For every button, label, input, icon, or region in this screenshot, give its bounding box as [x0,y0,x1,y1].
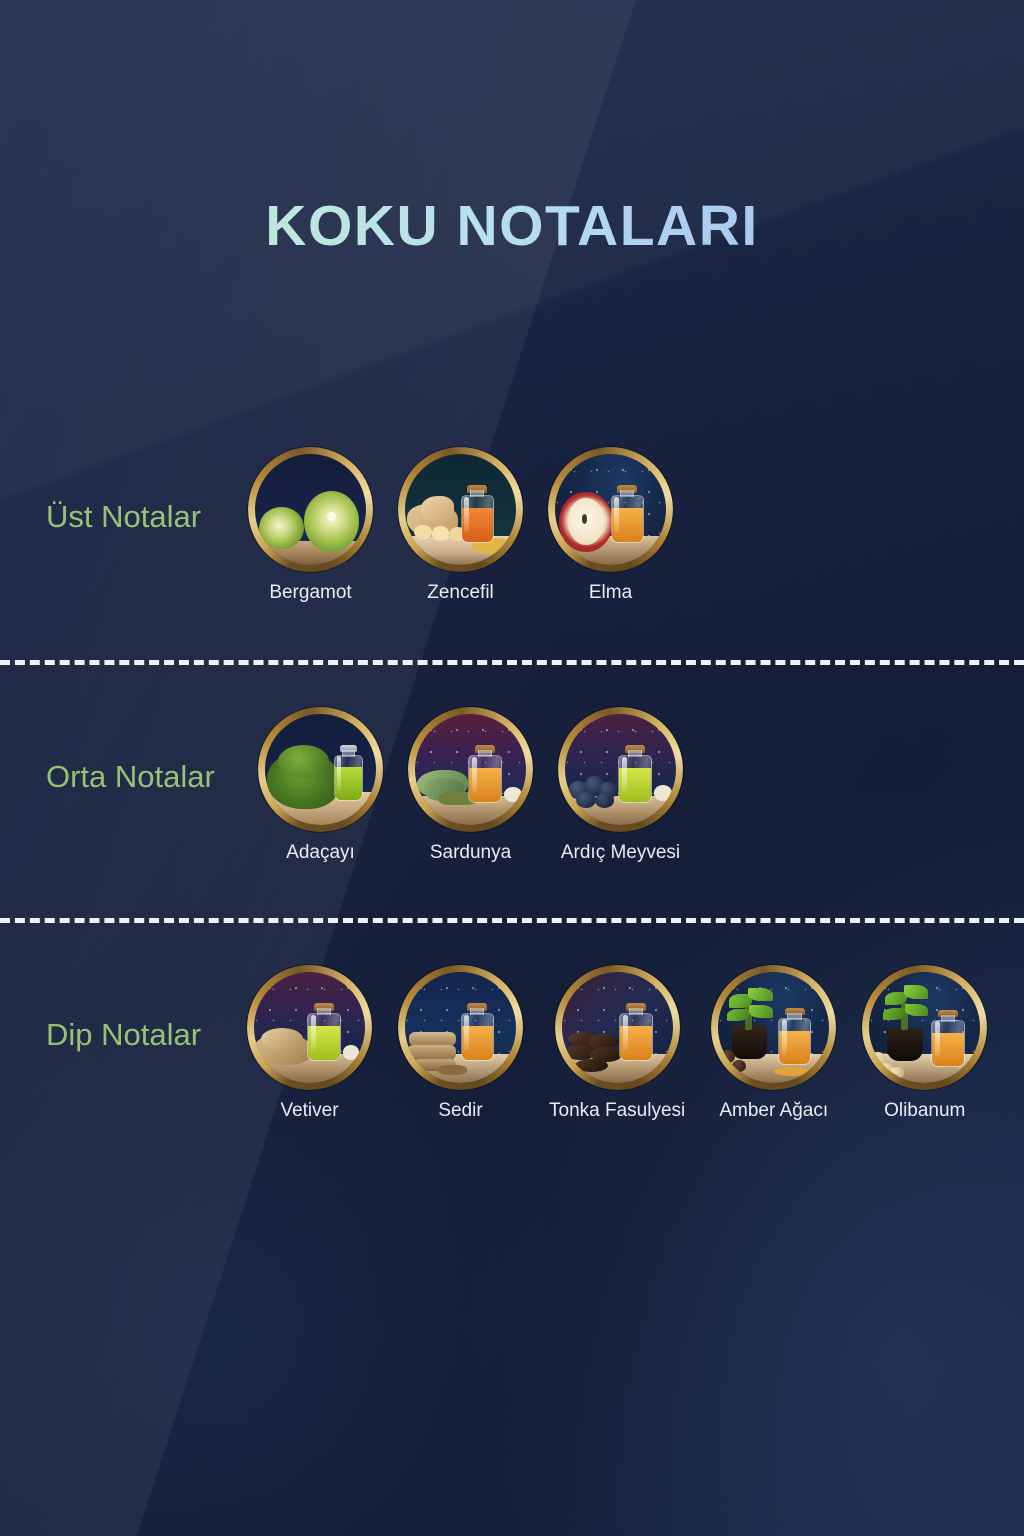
section-label-base-notes: Dip Notalar [46,1017,201,1053]
note-item-sardunya[interactable]: Sardunya [408,707,533,864]
divider-top-middle [0,660,1024,665]
ginger-root-icon [398,447,523,572]
note-item-elma[interactable]: Elma [548,447,673,604]
section-label-top-notes: Üst Notalar [46,499,201,535]
frankincense-icon [862,965,987,1090]
note-label: Vetiver [280,1100,338,1122]
note-item-adacayi[interactable]: Adaçayı [258,707,383,864]
note-item-zencefil[interactable]: Zencefil [398,447,523,604]
background-glow-right [444,756,1024,1536]
note-item-ardic-meyvesi[interactable]: Ardıç Meyvesi [558,707,683,864]
page-title: KOKU NOTALARI [0,193,1024,259]
amber-tree-icon [711,965,836,1090]
middle-notes-items: Adaçayı [258,707,683,864]
bergamot-citrus-icon [248,447,373,572]
note-label: Olibanum [884,1100,965,1122]
section-label-middle-notes: Orta Notalar [46,759,215,795]
note-item-bergamot[interactable]: Bergamot [248,447,373,604]
note-label: Tonka Fasulyesi [549,1100,685,1122]
note-item-olibanum[interactable]: Olibanum [862,965,987,1122]
juniper-berry-icon [558,707,683,832]
note-label: Adaçayı [286,842,355,864]
sage-herb-icon [258,707,383,832]
note-item-tonka-fasulyesi[interactable]: Tonka Fasulyesi [549,965,685,1122]
fragrance-notes-poster: KOKU NOTALARI Üst Notalar Bergamot [0,0,1024,1536]
note-label: Zencefil [427,582,494,604]
note-label: Bergamot [269,582,351,604]
note-item-amber-agaci[interactable]: Amber Ağacı [711,965,836,1122]
vetiver-root-icon [247,965,372,1090]
divider-middle-base [0,918,1024,923]
apple-icon [548,447,673,572]
tonka-bean-icon [555,965,680,1090]
note-item-vetiver[interactable]: Vetiver [247,965,372,1122]
geranium-icon [408,707,533,832]
note-label: Ardıç Meyvesi [561,842,680,864]
note-label: Sardunya [430,842,511,864]
cedar-wood-icon [398,965,523,1090]
note-label: Sedir [438,1100,482,1122]
base-notes-items: Vetiver [247,965,987,1122]
note-item-sedir[interactable]: Sedir [398,965,523,1122]
note-label: Amber Ağacı [719,1100,828,1122]
note-label: Elma [589,582,632,604]
top-notes-items: Bergamot [248,447,673,604]
